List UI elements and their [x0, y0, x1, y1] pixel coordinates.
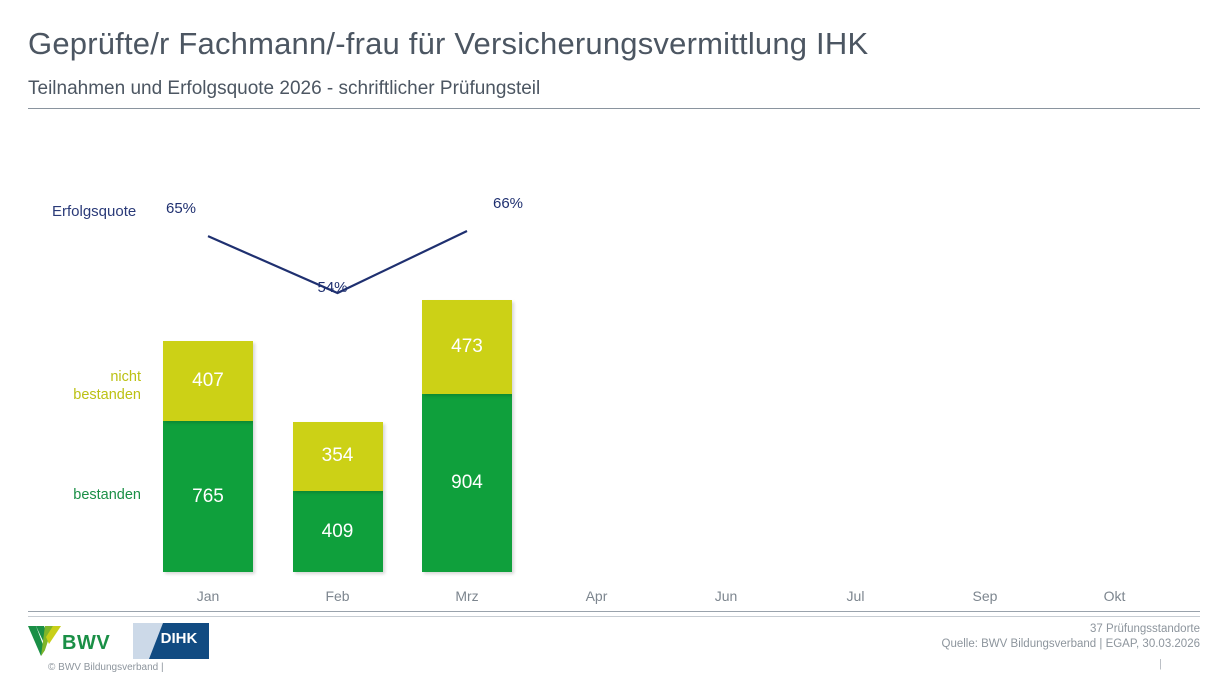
page-number: | [1159, 658, 1162, 670]
x-tick-jun: Jun [681, 588, 771, 604]
x-tick-jul: Jul [811, 588, 901, 604]
bar-value-bestanden-feb: 409 [293, 522, 383, 541]
x-axis-line [28, 611, 1200, 612]
bar-segment-bestanden-jan[interactable]: 765 [163, 421, 253, 572]
copyright-text: © BWV Bildungsverband | [48, 662, 164, 673]
svg-text:DIHK: DIHK [161, 630, 198, 647]
x-tick-feb: Feb [293, 588, 383, 604]
bar-segment-nicht-bestanden-jan[interactable]: 407 [163, 341, 253, 421]
bar-value-nicht-bestanden-mrz: 473 [422, 337, 512, 356]
bwv-wordmark: BWV [62, 632, 110, 655]
x-tick-okt: Okt [1070, 588, 1160, 604]
bar-segment-bestanden-mrz[interactable]: 904 [422, 394, 512, 572]
x-tick-apr: Apr [552, 588, 642, 604]
bar-segment-nicht-bestanden-feb[interactable]: 354 [293, 422, 383, 492]
rate-value-jan: 65% [146, 200, 216, 217]
series-label-bestanden: bestanden [1, 486, 141, 504]
x-tick-mrz: Mrz [422, 588, 512, 604]
source-line-2: Quelle: BWV Bildungsverband | EGAP, 30.0… [942, 638, 1201, 650]
bar-value-bestanden-mrz: 904 [422, 473, 512, 492]
dihk-logo-icon: DIHK [133, 623, 209, 659]
rate-series-label: Erfolgsquote [52, 203, 136, 220]
footer-divider [28, 616, 1200, 617]
x-tick-sep: Sep [940, 588, 1030, 604]
x-tick-jan: Jan [163, 588, 253, 604]
bar-segment-bestanden-feb[interactable]: 409 [293, 491, 383, 572]
rate-value-mrz: 66% [473, 195, 543, 212]
rate-value-feb: 54% [298, 279, 368, 296]
chart-plot-area: Erfolgsquote nicht bestanden bestanden 7… [0, 0, 1230, 691]
bar-value-nicht-bestanden-feb: 354 [293, 446, 383, 465]
bar-value-bestanden-jan: 765 [163, 487, 253, 506]
source-line-1: 37 Prüfungsstandorte [1090, 623, 1200, 635]
slide-root: Geprüfte/r Fachmann/-frau für Versicheru… [0, 0, 1230, 691]
series-label-nicht-bestanden: nicht bestanden [1, 368, 141, 404]
bar-value-nicht-bestanden-jan: 407 [163, 371, 253, 390]
bar-segment-nicht-bestanden-mrz[interactable]: 473 [422, 300, 512, 393]
